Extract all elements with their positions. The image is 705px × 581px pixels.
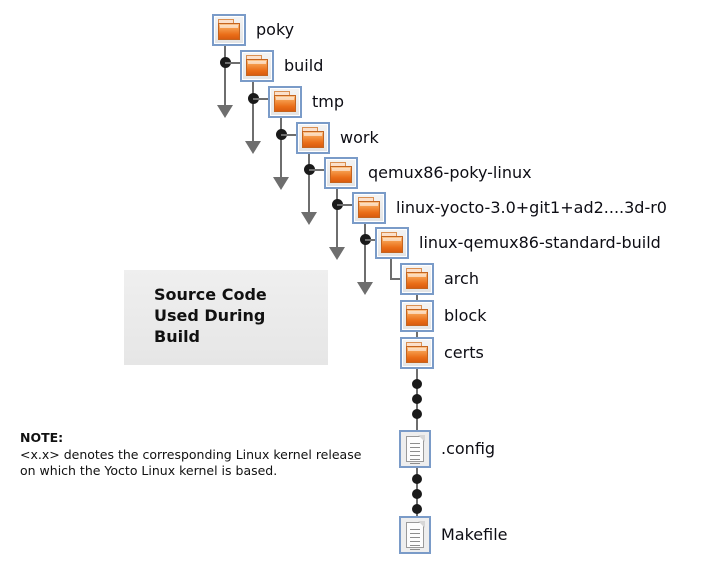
file-icon (399, 516, 431, 554)
tree-node-label: work (340, 130, 379, 146)
arrow-head-qemux86 (329, 247, 345, 260)
folder-icon (400, 337, 434, 369)
tree-node-build[interactable]: build (240, 50, 323, 82)
tree-node-label: linux-qemux86-standard-build (419, 235, 661, 251)
tree-node-label: .config (441, 441, 495, 457)
file-icon (399, 430, 431, 468)
note-title: NOTE: (20, 430, 380, 445)
folder-icon (375, 227, 409, 259)
folder-icon (268, 86, 302, 118)
tree-node-label: linux-yocto-3.0+git1+ad2....3d-r0 (396, 200, 667, 216)
tree-node-linux-yocto[interactable]: linux-yocto-3.0+git1+ad2....3d-r0 (352, 192, 667, 224)
tree-node-makefile[interactable]: Makefile (399, 516, 508, 554)
tree-node-label: poky (256, 22, 294, 38)
arrow-head-poky (217, 105, 233, 118)
callout-text: Source Code Used During Build (154, 284, 267, 347)
tree-node-label: qemux86-poky-linux (368, 165, 532, 181)
note-block: NOTE: <x.x> denotes the corresponding Li… (20, 430, 380, 479)
tree-node-label: tmp (312, 94, 344, 110)
folder-icon (324, 157, 358, 189)
ellipsis-dot-5 (412, 489, 422, 499)
arrow-head-tmp (273, 177, 289, 190)
folder-icon (400, 300, 434, 332)
tree-node-block[interactable]: block (400, 300, 486, 332)
folder-icon (400, 263, 434, 295)
tree-node-qemux86-poky-linux[interactable]: qemux86-poky-linux (324, 157, 532, 189)
ellipsis-dot-3 (412, 409, 422, 419)
connector-vertical-tmp (280, 118, 282, 180)
tree-node-linux-qemux86-standard-build[interactable]: linux-qemux86-standard-build (375, 227, 661, 259)
ellipsis-dot-1 (412, 379, 422, 389)
tree-node-work[interactable]: work (296, 122, 379, 154)
tree-node-label: block (444, 308, 486, 324)
folder-icon (212, 14, 246, 46)
tree-node-label: build (284, 58, 323, 74)
arrow-head-linuxyocto (357, 282, 373, 295)
ellipsis-dot-6 (412, 504, 422, 514)
connector-vertical-standard (390, 259, 392, 280)
note-body: <x.x> denotes the corresponding Linux ke… (20, 447, 380, 479)
tree-node-poky[interactable]: poky (212, 14, 294, 46)
tree-node-tmp[interactable]: tmp (268, 86, 344, 118)
arrow-head-work (301, 212, 317, 225)
tree-node-label: Makefile (441, 527, 508, 543)
folder-icon (240, 50, 274, 82)
connector-vertical-poky (224, 46, 226, 108)
tree-node-label: arch (444, 271, 479, 287)
folder-icon (352, 192, 386, 224)
ellipsis-dot-2 (412, 394, 422, 404)
tree-node-label: certs (444, 345, 484, 361)
folder-icon (296, 122, 330, 154)
tree-node-config[interactable]: .config (399, 430, 495, 468)
callout-box-source-code: Source Code Used During Build (124, 270, 328, 365)
tree-node-certs[interactable]: certs (400, 337, 484, 369)
connector-vertical-build (252, 82, 254, 144)
ellipsis-dot-4 (412, 474, 422, 484)
tree-node-arch[interactable]: arch (400, 263, 479, 295)
directory-tree-diagram: poky build tmp work qemux86-poky-linux l… (0, 0, 705, 581)
arrow-head-build (245, 141, 261, 154)
